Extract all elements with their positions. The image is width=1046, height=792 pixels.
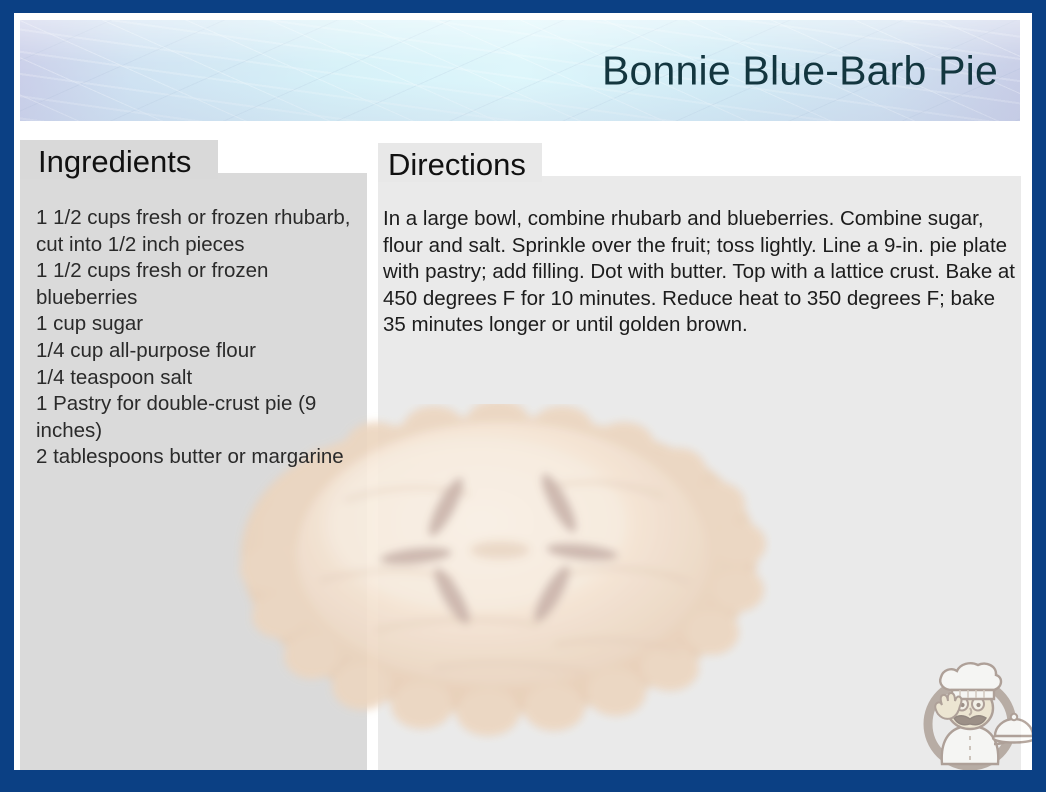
title-banner: Bonnie Blue-Barb Pie	[20, 20, 1020, 121]
page-title: Bonnie Blue-Barb Pie	[602, 48, 998, 93]
slide-content-area: Bonnie Blue-Barb Pie	[14, 13, 1032, 770]
ingredients-heading: Ingredients	[20, 140, 218, 179]
directions-text: In a large bowl, combine rhubarb and blu…	[383, 206, 1023, 339]
directions-heading: Directions	[378, 143, 542, 182]
chef-mascot-logo	[908, 652, 1032, 770]
ingredients-list: 1 1/2 cups fresh or frozen rhubarb, cut …	[36, 205, 366, 471]
recipe-slide: Bonnie Blue-Barb Pie	[0, 0, 1046, 792]
